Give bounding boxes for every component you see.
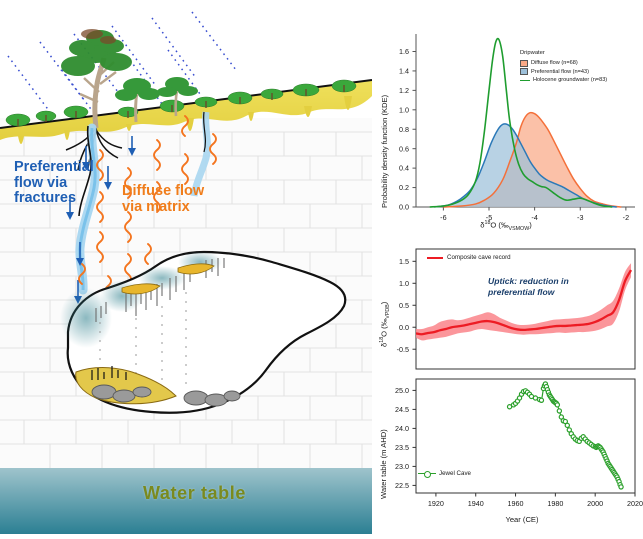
svg-text:0.8: 0.8 bbox=[399, 125, 409, 134]
kde-xaxis-label: δ18O (‰VSMOW) bbox=[480, 220, 532, 232]
swatch-preferential-icon bbox=[520, 68, 528, 75]
label-preferential-flow: Preferential flow via fractures bbox=[14, 160, 118, 207]
svg-text:23.0: 23.0 bbox=[395, 462, 409, 471]
svg-text:-6: -6 bbox=[440, 213, 446, 222]
svg-text:-0.5: -0.5 bbox=[397, 345, 409, 354]
kde-legend-title: Dripwater bbox=[520, 49, 607, 58]
svg-text:1.2: 1.2 bbox=[399, 86, 409, 95]
svg-text:1.6: 1.6 bbox=[399, 47, 409, 56]
water-table-legend: Jewel Cave bbox=[418, 470, 471, 477]
svg-text:22.5: 22.5 bbox=[395, 481, 409, 490]
kde-yaxis-label: Probability density function (KDE) bbox=[380, 95, 389, 208]
svg-text:0.5: 0.5 bbox=[399, 301, 409, 310]
water-table-svg: 22.523.023.524.024.525.01920194019601980… bbox=[372, 375, 643, 534]
kde-legend-item-diffuse: Diffuse flow (n=68) bbox=[520, 59, 607, 68]
svg-text:2020: 2020 bbox=[627, 499, 643, 508]
panel-water-table: 22.523.023.524.024.525.01920194019601980… bbox=[372, 375, 643, 534]
svg-text:0.4: 0.4 bbox=[399, 164, 409, 173]
svg-text:0.0: 0.0 bbox=[399, 203, 409, 212]
panel-kde: 0.00.20.40.60.81.01.21.41.6-6-5-4-3-2 Dr… bbox=[372, 22, 643, 237]
composite-record-legend: Composite cave record bbox=[427, 254, 511, 261]
karst-diagram-svg bbox=[0, 0, 372, 534]
chart-column: 0.00.20.40.60.81.01.21.41.6-6-5-4-3-2 Dr… bbox=[372, 0, 643, 534]
composite-yaxis-label: δ18O (‰VPDB) bbox=[379, 302, 391, 347]
svg-text:23.5: 23.5 bbox=[395, 443, 409, 452]
svg-text:1.0: 1.0 bbox=[399, 279, 409, 288]
svg-text:-2: -2 bbox=[623, 213, 629, 222]
panel-composite-cave-record: -0.50.00.51.01.5 Composite cave record U… bbox=[372, 243, 643, 375]
label-water-table: Water table bbox=[143, 484, 246, 503]
svg-text:-3: -3 bbox=[577, 213, 583, 222]
kde-legend-item-groundwater: Holocene groundwater (n=83) bbox=[520, 76, 607, 85]
svg-text:1.4: 1.4 bbox=[399, 67, 409, 76]
svg-text:-4: -4 bbox=[531, 213, 537, 222]
swatch-diffuse-icon bbox=[520, 60, 528, 67]
water-table-xaxis-label: Year (CE) bbox=[505, 515, 538, 524]
composite-record-svg: -0.50.00.51.01.5 bbox=[372, 243, 643, 375]
svg-text:1920: 1920 bbox=[428, 499, 444, 508]
svg-text:0.6: 0.6 bbox=[399, 144, 409, 153]
line-groundwater-icon bbox=[520, 80, 530, 81]
conceptual-karst-illustration: Preferential flow via fractures Diffuse … bbox=[0, 0, 372, 534]
kde-legend: Dripwater Diffuse flow (n=68) Preferenti… bbox=[520, 49, 607, 85]
svg-text:25.0: 25.0 bbox=[395, 386, 409, 395]
svg-text:1.5: 1.5 bbox=[399, 257, 409, 266]
svg-text:1960: 1960 bbox=[508, 499, 524, 508]
svg-text:1940: 1940 bbox=[468, 499, 484, 508]
svg-text:24.0: 24.0 bbox=[395, 424, 409, 433]
svg-text:1980: 1980 bbox=[547, 499, 563, 508]
annotation-uptick: Uptick: reduction in preferential flow bbox=[488, 276, 600, 299]
water-table-yaxis-label: Water table (m AHD) bbox=[379, 429, 388, 499]
svg-text:0.2: 0.2 bbox=[399, 183, 409, 192]
svg-text:1.0: 1.0 bbox=[399, 105, 409, 114]
svg-text:0.0: 0.0 bbox=[399, 323, 409, 332]
kde-legend-item-preferential: Preferential flow (n=43) bbox=[520, 68, 607, 77]
marker-jewel-cave-icon bbox=[418, 470, 436, 477]
svg-text:24.5: 24.5 bbox=[395, 405, 409, 414]
line-composite-icon bbox=[427, 257, 443, 259]
svg-text:2000: 2000 bbox=[587, 499, 603, 508]
label-diffuse-flow: Diffuse flow via matrix bbox=[122, 184, 226, 215]
